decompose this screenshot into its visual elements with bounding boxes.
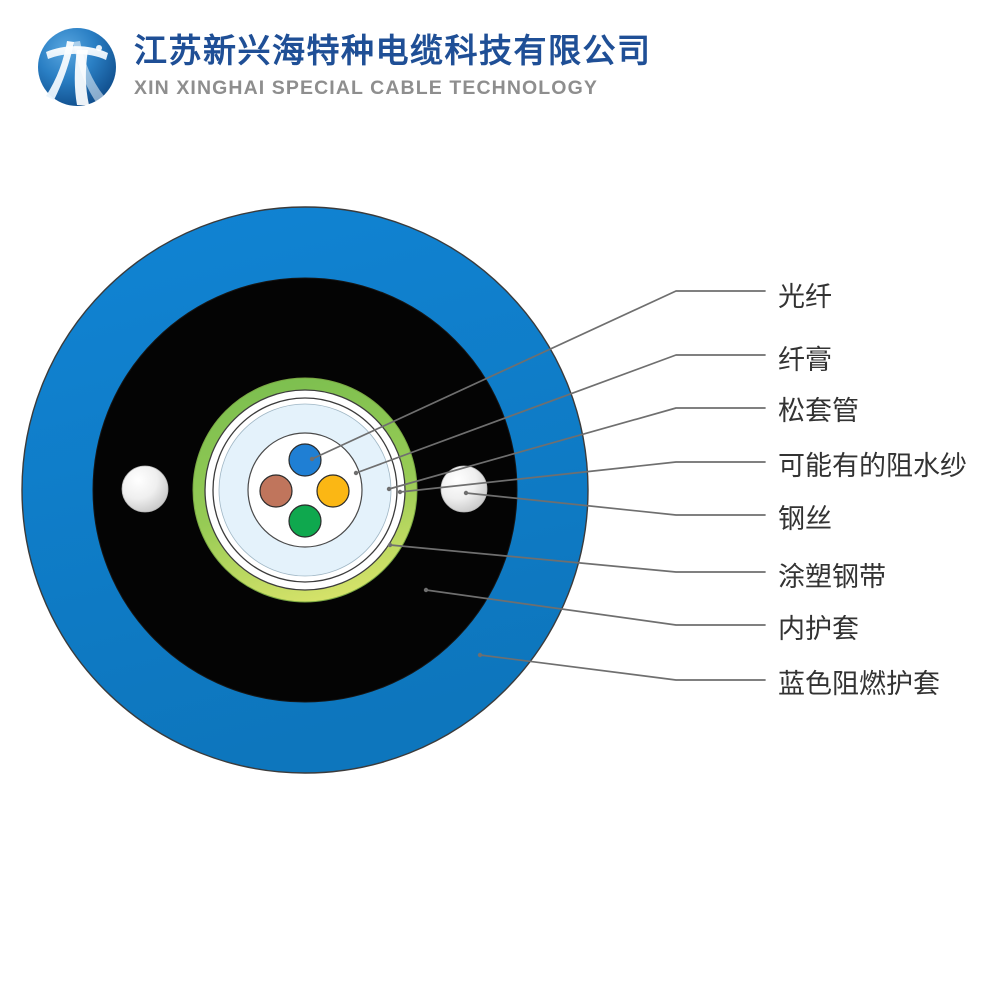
callout-label-loose-tube: 松套管 — [778, 397, 859, 427]
leader-anchor-inner-sheath — [424, 588, 428, 592]
fiber-orange-icon — [317, 475, 349, 507]
leader-anchor-loose-tube — [387, 487, 391, 491]
fiber-green-icon — [289, 505, 321, 537]
steel-wire-left-icon — [122, 466, 168, 512]
cable-cross-section-diagram: 光纤 纤膏 松套管 可能有的阻水纱 钢丝 涂塑钢带 内护套 蓝色阻燃护套 — [0, 0, 1000, 1000]
fiber-brown-icon — [260, 475, 292, 507]
leader-anchor-blue-jacket — [478, 653, 482, 657]
leader-anchor-fiber-gel — [354, 471, 358, 475]
leader-anchor-water-blocking-yarn — [398, 490, 402, 494]
leader-anchor-optical-fiber — [310, 457, 314, 461]
callout-label-optical-fiber: 光纤 — [778, 283, 832, 313]
callout-label-coated-steel-tape: 涂塑钢带 — [778, 563, 886, 593]
callout-label-fiber-gel: 纤膏 — [778, 346, 832, 376]
leader-anchor-steel-wire — [464, 491, 468, 495]
callout-label-blue-jacket: 蓝色阻燃护套 — [778, 670, 940, 700]
callout-label-inner-sheath: 内护套 — [778, 615, 859, 645]
callout-label-water-blocking-yarn: 可能有的阻水纱 — [778, 452, 967, 482]
callout-label-steel-wire: 钢丝 — [778, 505, 832, 535]
cable-cross-section-svg — [0, 0, 1000, 1000]
fiber-blue-icon — [289, 444, 321, 476]
leader-anchor-coated-steel-tape — [388, 543, 392, 547]
